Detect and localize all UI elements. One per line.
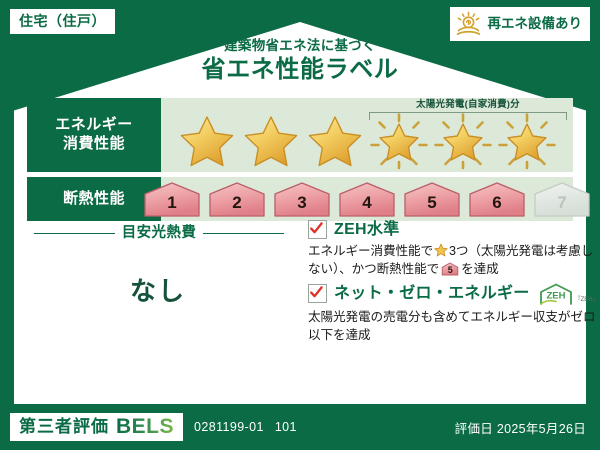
renewable-equipment-badge: 再エネ設備あり (450, 7, 591, 41)
title-main: 省エネ性能ラベル (14, 56, 586, 85)
page-title: 建築物省エネ法に基づく 省エネ性能ラベル (14, 38, 586, 84)
insulation-grade-1: 1 (141, 180, 203, 218)
row-insulation-performance: 断熱性能 (27, 177, 573, 221)
utility-cost-heading: 目安光熱費 (34, 226, 284, 241)
bels-certification-box: 第三者評価 BELS (10, 413, 183, 441)
net-zero-title: ネット・ゼロ・エネルギー (334, 286, 530, 302)
inline-star-icon (434, 243, 448, 257)
insulation-grade-5-number: 5 (427, 194, 436, 218)
criterion-zeh-standard: ZEH水準 エネルギー消費性能で3つ（太陽光発電は考慮しない）、かつ断熱性能で5… (308, 220, 599, 279)
insulation-grade-1-number: 1 (167, 194, 176, 218)
footer-bar: 第三者評価 BELS 0281199-01 101 評価日 2025年5月26日 (0, 404, 600, 450)
third-party-evaluation-label: 第三者評価 (19, 418, 109, 435)
zeh-logo-caption: 『ZEH』 (575, 297, 599, 305)
solar-annotation-label: 太陽光発電(自家消費)分 (369, 100, 567, 110)
cost-rule-right (203, 233, 284, 234)
insulation-grade-4: 4 (336, 180, 398, 218)
criterion-net-zero-header: ネット・ゼロ・エネルギー ZEH 『ZEH』 (308, 283, 599, 305)
inline-insulation-badge: 5 (441, 262, 459, 276)
insulation-grade-3-number: 3 (297, 194, 306, 218)
criterion-net-zero-energy: ネット・ゼロ・エネルギー ZEH 『ZEH』 太陽光発電の売電分も含めてエネルギ… (308, 283, 599, 345)
insulation-grade-scale: 1 2 3 (161, 177, 573, 221)
bels-unit-number: 101 (275, 420, 297, 434)
performance-rows: エネルギー 消費性能 太陽光発電(自家消費)分 (27, 98, 573, 226)
zeh-standard-description: エネルギー消費性能で3つ（太陽光発電は考慮しない）、かつ断熱性能で5を達成 (308, 242, 599, 279)
zeh-desc-part1: エネルギー消費性能で (308, 244, 433, 258)
row-energy-performance: エネルギー 消費性能 太陽光発電(自家消費)分 (27, 98, 573, 172)
insulation-grade-6-number: 6 (492, 194, 501, 218)
row-energy-label-line2: 消費性能 (63, 135, 125, 154)
row-energy-label-line1: エネルギー (55, 116, 133, 135)
insulation-grade-3: 3 (271, 180, 333, 218)
zeh-standard-checkbox[interactable] (308, 220, 327, 239)
star-filled-3 (305, 112, 365, 170)
insulation-grade-5: 5 (401, 180, 463, 218)
insulation-grade-2-number: 2 (232, 194, 241, 218)
insulation-grade-2: 2 (206, 180, 268, 218)
solar-sun-icon (455, 11, 482, 37)
row-energy-label: エネルギー 消費性能 (27, 98, 161, 172)
utility-cost-label: 目安光熱費 (122, 226, 197, 241)
zeh-house-logo: ZEH 『ZEH』 (539, 283, 599, 305)
zeh-desc-part3: を達成 (461, 262, 498, 276)
criterion-zeh-standard-header: ZEH水準 (308, 220, 599, 239)
cost-rule-left (34, 233, 115, 234)
net-zero-checkbox[interactable] (308, 284, 327, 303)
zeh-standard-title: ZEH水準 (334, 222, 400, 238)
svg-text:ZEH: ZEH (546, 290, 565, 301)
lower-section: 目安光熱費 なし ZEH水準 エネルギー消 (14, 220, 586, 400)
renewable-badge-label: 再エネ設備あり (488, 17, 583, 31)
building-type-chip: 住宅（住戸） (10, 9, 115, 34)
row-energy-value: 太陽光発電(自家消費)分 (161, 98, 573, 172)
energy-performance-label: 住宅（住戸） 再エネ設備あり 建築物省エネ法に基づ (0, 0, 600, 450)
row-insulation-value: 1 2 3 (161, 177, 573, 221)
net-zero-description: 太陽光発電の売電分も含めてエネルギー収支がゼロ以下を達成 (308, 308, 599, 345)
utility-cost-value: なし (14, 271, 302, 308)
star-solar-5 (433, 112, 493, 170)
star-filled-2 (241, 112, 301, 170)
star-solar-4 (369, 112, 429, 170)
insulation-grade-7-number: 7 (557, 194, 566, 218)
inline-insulation-badge-value: 5 (441, 262, 459, 276)
label-panel-content: 建築物省エネ法に基づく 省エネ性能ラベル エネルギー 消費性能 太陽光発電(自家… (14, 22, 586, 424)
evaluation-date: 評価日 2025年5月26日 (455, 418, 586, 437)
utility-cost-section: 目安光熱費 なし (14, 220, 302, 400)
criteria-section: ZEH水準 エネルギー消費性能で3つ（太陽光発電は考慮しない）、かつ断熱性能で5… (302, 220, 599, 400)
insulation-grade-6: 6 (466, 180, 528, 218)
insulation-grade-4-number: 4 (362, 194, 371, 218)
star-filled-1 (177, 112, 237, 170)
star-rating (161, 112, 573, 170)
star-solar-6 (497, 112, 557, 170)
bels-registration-number: 0281199-01 (194, 420, 264, 434)
bels-logo-text: BELS (116, 416, 174, 437)
insulation-grade-7: 7 (531, 180, 593, 218)
